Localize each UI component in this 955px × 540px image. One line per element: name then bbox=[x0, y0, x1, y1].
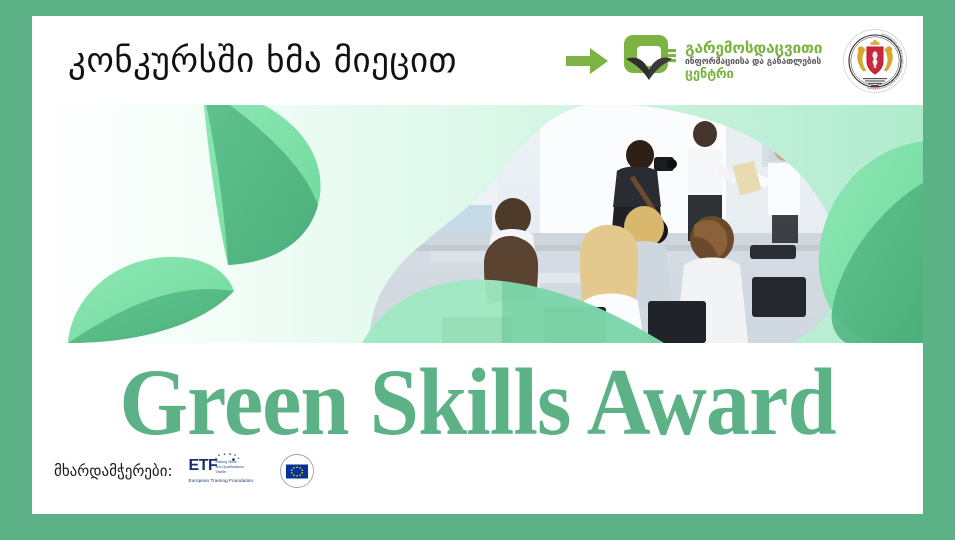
georgia-ministry-coat-of-arms-icon: საქართველოს გარემოს დაცვისა და სოფლის მე… bbox=[842, 28, 908, 94]
hero-photo-composition bbox=[32, 105, 923, 343]
poster-card: კონკურსში ხმა მიეცით bbox=[32, 16, 923, 514]
eiec-line-1: გარემოსდაცვითი bbox=[685, 40, 822, 56]
arrow-right-icon bbox=[566, 48, 608, 74]
eiec-logo-text: გარემოსდაცვითი ინფორმაციისა და განათლები… bbox=[685, 40, 822, 82]
etf-tagline: Making Skills and Qualifications Visible bbox=[216, 460, 245, 476]
eiec-logo: გარემოსდაცვითი ინფორმაციისა და განათლები… bbox=[622, 33, 822, 89]
etf-full-name: European Training Foundation bbox=[189, 478, 254, 483]
supporters-row: მხარდამჭერები: ETF Making Skills and Qua… bbox=[54, 452, 315, 490]
eiec-line-3: ცენტრი bbox=[685, 68, 822, 82]
page-title: Green Skills Award bbox=[63, 355, 892, 450]
etf-acronym: ETF bbox=[189, 457, 218, 475]
header-band: კონკურსში ხმა მიეცით bbox=[32, 16, 923, 105]
page-headline: კონკურსში ხმა მიეცით bbox=[68, 41, 457, 81]
open-book-in-green-square-icon bbox=[622, 33, 678, 89]
hero-photo-band bbox=[32, 105, 923, 343]
eu-flag-logo bbox=[279, 453, 315, 489]
etf-logo: ETF Making Skills and Qualifications Vis… bbox=[189, 452, 263, 490]
supporters-label: მხარდამჭერები: bbox=[54, 462, 173, 480]
poster-root: კონკურსში ხმა მიეცით bbox=[0, 0, 955, 540]
title-band: Green Skills Award მხარდამჭერები: ETF Ma… bbox=[32, 343, 923, 514]
eiec-line-2: ინფორმაციისა და განათლების bbox=[685, 58, 822, 67]
